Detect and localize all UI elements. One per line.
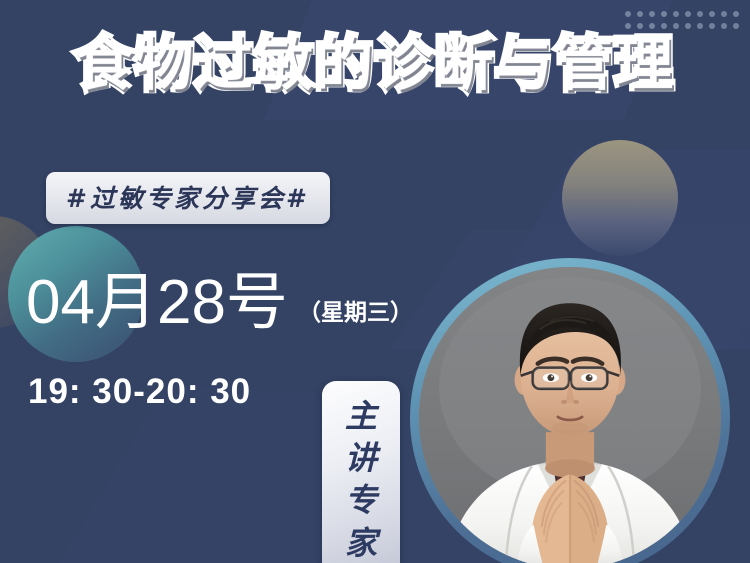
speaker-portrait-photo	[419, 267, 721, 563]
speaker-badge-char: 讲	[345, 437, 377, 479]
dot	[673, 23, 679, 29]
dot	[637, 23, 643, 29]
speaker-badge-char: 主	[345, 395, 377, 437]
doctor-portrait-icon	[419, 267, 721, 563]
event-weekday: （星期三）	[298, 293, 413, 334]
dot	[721, 11, 727, 17]
page-title: 食物过敏的诊断与管理	[0, 36, 750, 94]
speaker-badge: 主讲专家	[322, 381, 400, 563]
dot	[661, 23, 667, 29]
dot	[709, 11, 715, 17]
speaker-badge-char: 专	[345, 479, 377, 521]
dot	[697, 23, 703, 29]
dot	[685, 23, 691, 29]
dot	[625, 11, 631, 17]
hashtag-badge: #过敏专家分享会#	[46, 172, 330, 224]
dot-grid-icon	[622, 8, 742, 32]
event-date-row: 04月28号 （星期三）	[26, 272, 413, 334]
dot	[649, 23, 655, 29]
dot	[673, 11, 679, 17]
event-time: 19: 30-20: 30	[28, 372, 251, 412]
event-poster: 食物过敏的诊断与管理 #过敏专家分享会# 04月28号 （星期三） 19: 30…	[0, 0, 750, 563]
speaker-badge-char: 家	[345, 522, 377, 563]
event-date: 04月28号	[26, 272, 288, 334]
dot	[709, 23, 715, 29]
dot	[697, 11, 703, 17]
speaker-portrait-ring	[410, 258, 730, 563]
dot	[721, 23, 727, 29]
dot	[733, 11, 739, 17]
gold-circle-decoration-right	[562, 140, 678, 256]
dot	[625, 23, 631, 29]
dot	[637, 11, 643, 17]
dot	[733, 23, 739, 29]
dot	[649, 11, 655, 17]
dot	[661, 11, 667, 17]
dot	[685, 11, 691, 17]
